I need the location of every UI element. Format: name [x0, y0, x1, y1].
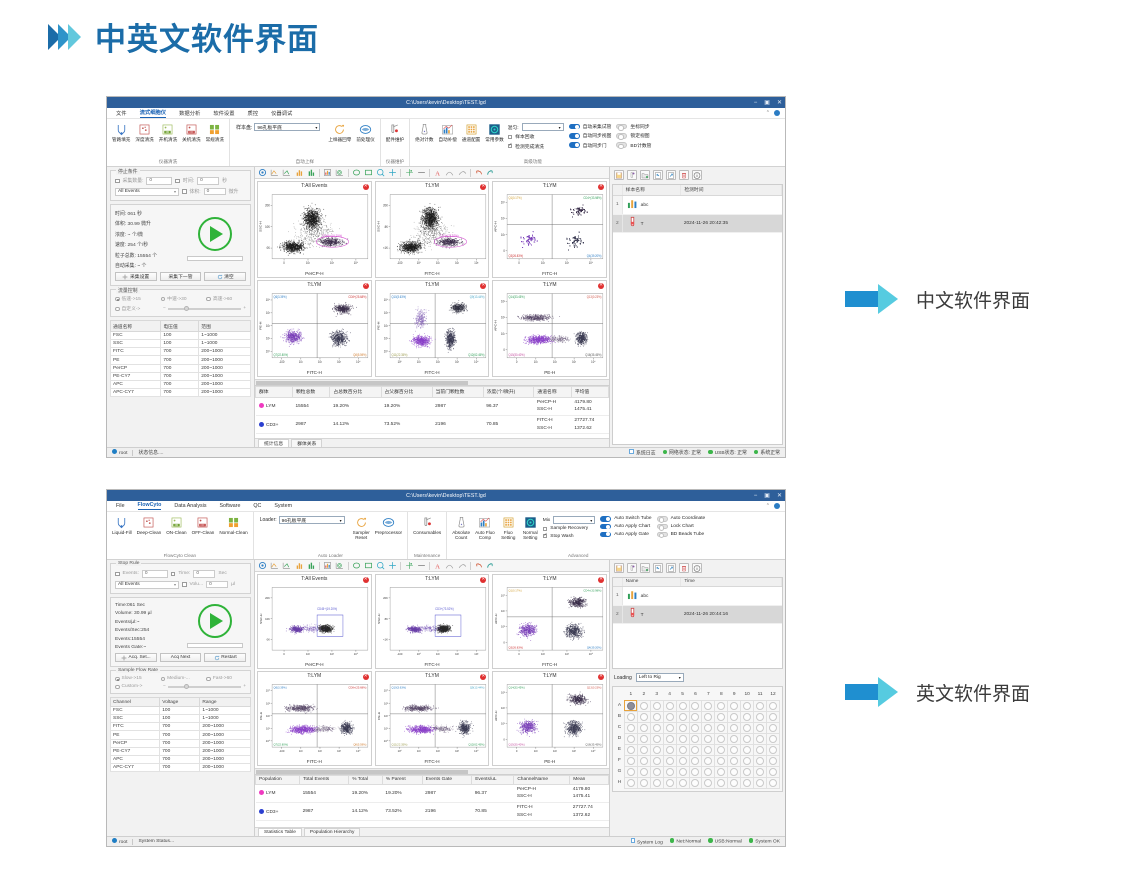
toggle-b-1[interactable]	[616, 133, 627, 139]
plate-well-H11[interactable]	[754, 777, 767, 788]
plate-well-A8[interactable]	[715, 700, 728, 711]
plate-well-G3[interactable]	[650, 766, 663, 777]
close-icon[interactable]: ✕	[480, 184, 486, 190]
plate-well-F3[interactable]	[650, 755, 663, 766]
plot-hscrollbar[interactable]	[255, 768, 609, 774]
ribbon-button-normal-setting[interactable]: 常用参数	[484, 121, 504, 142]
flow-slider[interactable]: − +	[163, 684, 246, 689]
volume-input[interactable]: 0	[206, 581, 228, 589]
flow-radio-1[interactable]	[161, 677, 166, 682]
plate-well-C1[interactable]	[624, 722, 637, 733]
ribbon-button-deep-clean[interactable]: 深度清洗	[134, 121, 154, 142]
toggle-b-0[interactable]	[616, 124, 627, 130]
ribbon-button-off-clean[interactable]: OFF 关机清洗	[181, 121, 201, 142]
plate-well-C2[interactable]	[637, 722, 650, 733]
plate-well-C10[interactable]	[741, 722, 754, 733]
close-icon[interactable]: ✕	[598, 674, 604, 680]
slider-knob[interactable]	[184, 684, 189, 689]
flow-radio-2[interactable]	[206, 677, 211, 682]
ribbon-button-preprocessor[interactable]: 前处理仪	[355, 121, 375, 142]
table-row[interactable]: PE-CY7700200~1000	[111, 372, 251, 380]
crosshair-icon[interactable]	[405, 168, 414, 177]
histogram-icon[interactable]	[295, 561, 304, 570]
table-row[interactable]: FSC1001~1000	[111, 331, 251, 339]
plate-well-C8[interactable]	[715, 722, 728, 733]
acq-settings-button[interactable]: Acq. Set...	[115, 653, 157, 662]
plate-well-C4[interactable]	[663, 722, 676, 733]
tab-0[interactable]: Statistics Table	[258, 828, 302, 836]
plate-well-F2[interactable]	[637, 755, 650, 766]
save-icon[interactable]	[614, 170, 624, 180]
minimize-button[interactable]: −	[754, 493, 758, 499]
plate-well-G2[interactable]	[637, 766, 650, 777]
plate-well-G6[interactable]	[689, 766, 702, 777]
tab-0[interactable]: 统计信息	[258, 439, 289, 447]
plate-well-D5[interactable]	[676, 733, 689, 744]
polygon-gate-icon[interactable]	[376, 561, 385, 570]
events-input[interactable]: 0	[146, 177, 172, 185]
ribbon-button-auto-fluo-comp[interactable]: 自动补偿	[438, 121, 458, 142]
status-item-0[interactable]: System Log	[631, 838, 663, 846]
plot-card[interactable]: T:LYM ✕ CD3+(73.52%)-10010⁰10¹10²10³20K8…	[375, 574, 490, 669]
plate-well-E12[interactable]	[767, 744, 780, 755]
gate-right-icon[interactable]	[282, 561, 291, 570]
plot-card[interactable]: T:LYM ✕ CD3+(73.52%)-10010⁰10¹10²10³20K8…	[375, 181, 490, 278]
table-row[interactable]: CD3+ 2987 14.12% 73.52% 2196 70.85 FITC-…	[256, 802, 609, 820]
info-icon[interactable]	[692, 170, 702, 180]
acq-settings-button[interactable]: 采集设置	[115, 272, 157, 281]
line-gate-icon[interactable]	[417, 561, 426, 570]
plate-well-A11[interactable]	[754, 700, 767, 711]
ribbon-button-consumables[interactable]: Consumables	[412, 514, 442, 535]
close-icon[interactable]: ✕	[480, 577, 486, 583]
ribbon-button-liquid-fill[interactable]: 管路填充	[111, 121, 131, 142]
plate-well-D11[interactable]	[754, 733, 767, 744]
flow-custom-radio[interactable]	[115, 307, 120, 312]
close-button[interactable]: ✕	[777, 100, 782, 106]
loader-select[interactable]: 96孔板平底▾	[254, 123, 320, 131]
export-icon[interactable]	[666, 563, 676, 573]
plot-card[interactable]: T:LYM ✕ Q1(0.17%)CD4+(33.98%)Q3(26.83%)Q…	[492, 181, 607, 278]
list-item[interactable]: 1 abc	[613, 195, 782, 214]
mix-select[interactable]: ▾	[553, 516, 595, 524]
plate-well-A9[interactable]	[728, 700, 741, 711]
plate-well-H9[interactable]	[728, 777, 741, 788]
plate-well-H1[interactable]	[624, 777, 637, 788]
density-icon[interactable]	[323, 561, 332, 570]
delete-icon[interactable]	[679, 170, 689, 180]
checkbox-1[interactable]	[508, 144, 513, 149]
plate-well-C9[interactable]	[728, 722, 741, 733]
close-icon[interactable]: ✕	[363, 674, 369, 680]
plot-card[interactable]: T:LYM ✕ Q1(0.17%)CD4+(33.98%)Q3(26.83%)Q…	[492, 574, 607, 669]
rect-gate-icon[interactable]	[364, 168, 373, 177]
text-icon[interactable]: A	[433, 168, 442, 177]
table-row[interactable]: LYM 15554 19.20% 19.20% 2987 96.37 PerCP…	[256, 397, 609, 415]
select-icon[interactable]	[258, 168, 267, 177]
gate-left-icon[interactable]	[270, 561, 279, 570]
histogram2-icon[interactable]	[307, 168, 316, 177]
gate-select[interactable]: All Events▾	[115, 188, 179, 196]
plate-well-H12[interactable]	[767, 777, 780, 788]
table-row[interactable]: SSC1001~1000	[111, 715, 251, 723]
plate-well-G9[interactable]	[728, 766, 741, 777]
slider-plus-icon[interactable]: +	[243, 684, 246, 689]
start-acquisition-button[interactable]	[198, 604, 232, 638]
plate-well-D9[interactable]	[728, 733, 741, 744]
plot-card[interactable]: T:All Events ✕ CD45+(19.20%)010²10³10⁴20…	[257, 574, 372, 669]
help-icon[interactable]	[774, 503, 780, 509]
events-input[interactable]: 0	[142, 570, 168, 578]
plate-well-B1[interactable]	[624, 711, 637, 722]
plate-well-D7[interactable]	[702, 733, 715, 744]
menu-item-0[interactable]: File	[116, 503, 125, 509]
flow-custom-radio[interactable]	[115, 685, 120, 690]
events-checkbox[interactable]	[115, 179, 120, 184]
ribbon-button-on-clean[interactable]: ON 开机清洗	[158, 121, 178, 142]
table-row[interactable]: CD3+ 2987 14.12% 73.52% 2196 70.85 FITC-…	[256, 415, 609, 433]
collapse-ribbon-icon[interactable]: ⌃	[766, 110, 770, 116]
plate-well-C11[interactable]	[754, 722, 767, 733]
plate-well-B4[interactable]	[663, 711, 676, 722]
table-row[interactable]: PE700200~1000	[111, 356, 251, 364]
folder-icon[interactable]	[640, 563, 650, 573]
loading-direction-select[interactable]: Left to Rig▾	[636, 673, 684, 682]
plate-well-D6[interactable]	[689, 733, 702, 744]
crosshair-icon[interactable]	[405, 561, 414, 570]
ribbon-button-auto-fluo-comp[interactable]: Auto Fluo Comp	[474, 514, 496, 541]
arc-icon[interactable]	[445, 168, 454, 177]
plate-well-B9[interactable]	[728, 711, 741, 722]
table-row[interactable]: PE700200~1000	[111, 731, 251, 739]
scrollbar-thumb[interactable]	[256, 381, 468, 385]
ribbon-button-on-clean[interactable]: ON ON-Clean	[165, 514, 187, 535]
toggle-b-2[interactable]	[616, 142, 627, 148]
plate-well-G5[interactable]	[676, 766, 689, 777]
toggle-a-2[interactable]	[569, 142, 580, 148]
plot-card[interactable]: T:LYM ✕ Q14(33.45%)Q13(0.23%)Q15(30.40%)…	[492, 671, 607, 766]
plate-well-E10[interactable]	[741, 744, 754, 755]
table-row[interactable]: FITC700200~1000	[111, 723, 251, 731]
flow-option-1[interactable]: 中速->30	[161, 295, 201, 302]
plate-well-B2[interactable]	[637, 711, 650, 722]
plate-well-H7[interactable]	[702, 777, 715, 788]
ribbon-button-normal-clean[interactable]: 常规清洗	[205, 121, 225, 142]
plate-well-A10[interactable]	[741, 700, 754, 711]
plate-well-E3[interactable]	[650, 744, 663, 755]
plate-well-C12[interactable]	[767, 722, 780, 733]
menu-item-2[interactable]: 数据分析	[179, 109, 200, 117]
toggle-b-0[interactable]	[657, 516, 668, 522]
menu-item-1[interactable]: FlowCyto	[138, 502, 162, 510]
histogram2-icon[interactable]	[307, 561, 316, 570]
plate-well-D2[interactable]	[637, 733, 650, 744]
tab-1[interactable]: Population Hierarchy	[304, 828, 361, 836]
maximize-button[interactable]: ▣	[764, 493, 770, 499]
flow-option-1[interactable]: Medium-...	[161, 676, 201, 681]
table-row[interactable]: APC-CY7700200~1000	[111, 764, 251, 772]
plate-well-A1[interactable]	[624, 700, 637, 711]
folder-icon[interactable]	[640, 170, 650, 180]
close-icon[interactable]: ✕	[363, 577, 369, 583]
flow-radio-1[interactable]	[161, 297, 166, 302]
plate-well-C5[interactable]	[676, 722, 689, 733]
loader-select[interactable]: 96孔板平底▾	[279, 516, 345, 524]
flow-option-2[interactable]: Fast->60	[206, 676, 246, 681]
ribbon-button-deep-clean[interactable]: Deep-Clean	[136, 514, 163, 535]
plate-well-H6[interactable]	[689, 777, 702, 788]
plot-card[interactable]: T:LYM ✕ Q6(3.39%)CD8+(25.68%)Q7(22.80%)Q…	[257, 280, 372, 377]
plot-card[interactable]: T:LYM ✕ Q14(33.45%)Q13(0.23%)Q15(30.40%)…	[492, 280, 607, 377]
newtube-icon[interactable]	[627, 170, 637, 180]
plate-well-G1[interactable]	[624, 766, 637, 777]
line-gate-icon[interactable]	[417, 168, 426, 177]
flow-radio-2[interactable]	[206, 297, 211, 302]
ribbon-button-normal-clean[interactable]: Normal-Clean	[218, 514, 248, 535]
plate-well-F7[interactable]	[702, 755, 715, 766]
toggle-a-2[interactable]	[600, 532, 611, 538]
volume-checkbox[interactable]	[182, 582, 187, 587]
menu-item-4[interactable]: QC	[253, 503, 261, 509]
plate-well-F6[interactable]	[689, 755, 702, 766]
slider-plus-icon[interactable]: +	[243, 306, 246, 311]
toggle-a-0[interactable]	[569, 124, 580, 130]
plate-well-A3[interactable]	[650, 700, 663, 711]
plate-well-F10[interactable]	[741, 755, 754, 766]
table-row[interactable]: SSC1001~1000	[111, 340, 251, 348]
plot-card[interactable]: T:LYM ✕ Q10(3.63%)Q9(13.44%)Q11(22.35%)Q…	[375, 280, 490, 377]
help-icon[interactable]	[774, 110, 780, 116]
plate-well-H8[interactable]	[715, 777, 728, 788]
plate-well-G10[interactable]	[741, 766, 754, 777]
close-icon[interactable]: ✕	[480, 674, 486, 680]
ribbon-button-fluo-setting[interactable]: Fluo Setting	[499, 514, 518, 541]
ribbon-button-consumables[interactable]: 配件维护	[385, 121, 405, 142]
menu-item-2[interactable]: Data Analysis	[174, 503, 206, 509]
plate-well-H2[interactable]	[637, 777, 650, 788]
redo-icon[interactable]	[486, 168, 495, 177]
close-icon[interactable]: ✕	[598, 184, 604, 190]
menu-item-5[interactable]: 仪器调试	[271, 109, 292, 117]
gate-left-icon[interactable]	[270, 168, 279, 177]
plate-well-F8[interactable]	[715, 755, 728, 766]
plate-well-G7[interactable]	[702, 766, 715, 777]
plate-well-E4[interactable]	[663, 744, 676, 755]
histogram-icon[interactable]	[295, 168, 304, 177]
menu-item-1[interactable]: 流式细胞仪	[140, 108, 167, 118]
curve-icon[interactable]	[458, 168, 467, 177]
plate-well-G8[interactable]	[715, 766, 728, 777]
plate-well-F1[interactable]	[624, 755, 637, 766]
start-acquisition-button[interactable]	[198, 217, 232, 251]
ribbon-button-fluo-setting[interactable]: 通道配置	[461, 121, 481, 142]
close-icon[interactable]: ✕	[480, 283, 486, 289]
import-icon[interactable]	[653, 563, 663, 573]
plate-well-B3[interactable]	[650, 711, 663, 722]
time-checkbox[interactable]	[171, 572, 176, 577]
volume-checkbox[interactable]	[182, 189, 187, 194]
plot-card[interactable]: T:LYM ✕ Q10(3.63%)Q9(13.44%)Q11(22.35%)Q…	[375, 671, 490, 766]
plate-well-A12[interactable]	[767, 700, 780, 711]
gate-select[interactable]: All Events▾	[115, 581, 179, 589]
plate-well-A7[interactable]	[702, 700, 715, 711]
list-item[interactable]: 2 T 2024-11-26 20:42:35	[613, 214, 782, 233]
plate-well-A2[interactable]	[637, 700, 650, 711]
plate-well-F12[interactable]	[767, 755, 780, 766]
plate-well-D8[interactable]	[715, 733, 728, 744]
checkbox-1[interactable]	[543, 534, 548, 539]
table-row[interactable]: APC-CY7700200~1000	[111, 389, 251, 397]
ellipse-gate-icon[interactable]	[352, 561, 361, 570]
plate-well-A4[interactable]	[663, 700, 676, 711]
plate-well-B11[interactable]	[754, 711, 767, 722]
text-icon[interactable]: A	[433, 561, 442, 570]
menu-item-0[interactable]: 文件	[116, 109, 127, 117]
flow-option-0[interactable]: Slow->15	[115, 676, 155, 681]
plot-card[interactable]: T:All Events ✕ CD45+(19.20%)010²10³10⁴20…	[257, 181, 372, 278]
plate-well-F9[interactable]	[728, 755, 741, 766]
arc-icon[interactable]	[445, 561, 454, 570]
plot-hscrollbar[interactable]	[255, 379, 609, 385]
plate-well-D4[interactable]	[663, 733, 676, 744]
ellipse-gate-icon[interactable]	[352, 168, 361, 177]
flow-custom-option[interactable]: 自定义->	[115, 305, 157, 312]
status-item-0[interactable]: 系统日志	[629, 449, 655, 457]
plate-well-C6[interactable]	[689, 722, 702, 733]
save-icon[interactable]	[614, 563, 624, 573]
plate-well-G4[interactable]	[663, 766, 676, 777]
slider-knob[interactable]	[184, 306, 189, 311]
close-icon[interactable]: ✕	[598, 283, 604, 289]
plate-well-E1[interactable]	[624, 744, 637, 755]
toggle-a-1[interactable]	[600, 524, 611, 530]
slider-minus-icon[interactable]: −	[163, 306, 166, 311]
sample-list[interactable]: NameTime 1 abc 2 T 2024-11-26 20:44:16	[612, 577, 783, 669]
flow-radio-0[interactable]	[115, 297, 120, 302]
plate-well-B5[interactable]	[676, 711, 689, 722]
plate-well-D12[interactable]	[767, 733, 780, 744]
time-checkbox[interactable]	[175, 179, 180, 184]
plate-well-H4[interactable]	[663, 777, 676, 788]
plate-well-D3[interactable]	[650, 733, 663, 744]
menu-item-3[interactable]: Software	[219, 503, 240, 509]
quad-gate-icon[interactable]	[388, 561, 397, 570]
plate-well-F11[interactable]	[754, 755, 767, 766]
toggle-a-1[interactable]	[569, 133, 580, 139]
close-icon[interactable]: ✕	[363, 184, 369, 190]
flow-option-0[interactable]: 低速->15	[115, 295, 155, 302]
plate-well-E9[interactable]	[728, 744, 741, 755]
ribbon-button-liquid-fill[interactable]: Liquid-Fill	[111, 514, 133, 535]
plate-well-E7[interactable]	[702, 744, 715, 755]
quad-gate-icon[interactable]	[388, 168, 397, 177]
redo-icon[interactable]	[486, 561, 495, 570]
density-icon[interactable]	[323, 168, 332, 177]
plate-well-E8[interactable]	[715, 744, 728, 755]
table-row[interactable]: PerCP700200~1000	[111, 364, 251, 372]
scrollbar-thumb[interactable]	[256, 770, 468, 774]
export-icon[interactable]	[666, 170, 676, 180]
plate-well-G12[interactable]	[767, 766, 780, 777]
checkbox-0[interactable]	[543, 527, 548, 532]
table-row[interactable]: PerCP700200~1000	[111, 739, 251, 747]
acq-next-button[interactable]: Acq Next	[160, 653, 202, 662]
restart-button[interactable]: 清空	[204, 272, 246, 281]
plate-well-F4[interactable]	[663, 755, 676, 766]
toggle-b-2[interactable]	[657, 532, 668, 538]
ribbon-button-sampler-reset[interactable]: Sampler Reset	[352, 514, 371, 541]
undo-icon[interactable]	[474, 168, 483, 177]
plate-well-B7[interactable]	[702, 711, 715, 722]
table-row[interactable]: APC700200~1000	[111, 755, 251, 763]
plate-well-E5[interactable]	[676, 744, 689, 755]
ribbon-button-absolute-count[interactable]: Absolute Count	[451, 514, 471, 541]
close-icon[interactable]: ✕	[363, 283, 369, 289]
contour-icon[interactable]	[335, 168, 344, 177]
checkbox-0[interactable]	[508, 135, 513, 140]
info-icon[interactable]	[692, 563, 702, 573]
table-row[interactable]: FSC1001~1000	[111, 706, 251, 714]
plate-well-D10[interactable]	[741, 733, 754, 744]
plate-well-G11[interactable]	[754, 766, 767, 777]
plate-well-E2[interactable]	[637, 744, 650, 755]
plate-well-B12[interactable]	[767, 711, 780, 722]
acq-next-button[interactable]: 采集下一管	[160, 272, 202, 281]
table-row[interactable]: APC700200~1000	[111, 380, 251, 388]
plate-well-A5[interactable]	[676, 700, 689, 711]
close-icon[interactable]: ✕	[598, 577, 604, 583]
flow-option-2[interactable]: 高速->60	[206, 295, 246, 302]
flow-slider[interactable]: − +	[163, 306, 246, 311]
list-item[interactable]: 1 abc	[613, 586, 782, 605]
ribbon-button-absolute-count[interactable]: 绝对计数	[414, 121, 434, 142]
gate-right-icon[interactable]	[282, 168, 291, 177]
sample-list[interactable]: 样本名称检测时间 1 abc 2 T 2024-11-26 20:42:35	[612, 184, 783, 445]
curve-icon[interactable]	[458, 561, 467, 570]
plate-well-B6[interactable]	[689, 711, 702, 722]
events-checkbox[interactable]	[115, 572, 120, 577]
toggle-a-0[interactable]	[600, 516, 611, 522]
plate-well-E11[interactable]	[754, 744, 767, 755]
time-input[interactable]: 0	[197, 177, 219, 185]
minimize-button[interactable]: −	[754, 100, 758, 106]
menu-item-4[interactable]: 质控	[248, 109, 259, 117]
table-row[interactable]: FITC700200~1000	[111, 348, 251, 356]
contour-icon[interactable]	[335, 561, 344, 570]
maximize-button[interactable]: ▣	[764, 100, 770, 106]
plate-well-H5[interactable]	[676, 777, 689, 788]
slider-minus-icon[interactable]: −	[163, 684, 166, 689]
rect-gate-icon[interactable]	[364, 561, 373, 570]
ribbon-button-normal-setting[interactable]: Normal Setting	[521, 514, 540, 541]
collapse-ribbon-icon[interactable]: ⌃	[766, 503, 770, 509]
volume-input[interactable]: 0	[204, 188, 226, 196]
plot-card[interactable]: T:LYM ✕ Q6(3.39%)CD8+(25.68%)Q7(22.80%)Q…	[257, 671, 372, 766]
ribbon-button-sampler-reset[interactable]: 上样器回零	[327, 121, 352, 142]
flow-radio-0[interactable]	[115, 677, 120, 682]
tab-1[interactable]: 群体关系	[291, 439, 322, 447]
toggle-b-1[interactable]	[657, 524, 668, 530]
plate-well-F5[interactable]	[676, 755, 689, 766]
time-input[interactable]: 0	[193, 570, 215, 578]
close-button[interactable]: ✕	[777, 493, 782, 499]
newtube-icon[interactable]	[627, 563, 637, 573]
restart-button[interactable]: Restart	[204, 653, 246, 662]
select-icon[interactable]	[258, 561, 267, 570]
plate-well-B10[interactable]	[741, 711, 754, 722]
import-icon[interactable]	[653, 170, 663, 180]
undo-icon[interactable]	[474, 561, 483, 570]
